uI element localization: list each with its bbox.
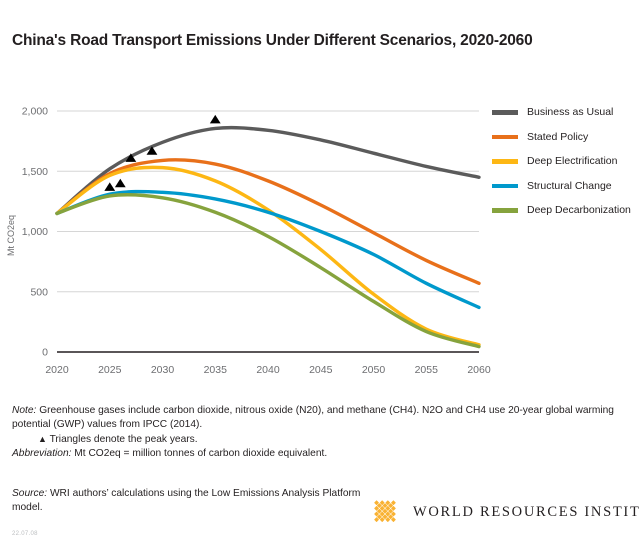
source-text: WRI authors’ calculations using the Low … — [12, 488, 360, 513]
svg-text:2020: 2020 — [45, 364, 69, 376]
legend-label: Structural Change — [527, 180, 612, 192]
note-text: Greenhouse gases include carbon dioxide,… — [12, 405, 614, 430]
wri-logo-text: WORLD RESOURCES INSTITUTE — [413, 504, 640, 521]
wri-diamond-logo-icon — [368, 495, 402, 529]
svg-text:2030: 2030 — [151, 364, 175, 376]
legend-item[interactable]: Deep Decarbonization — [492, 198, 640, 223]
legend-label: Deep Electrification — [527, 155, 617, 167]
legend-item[interactable]: Business as Usual — [492, 100, 640, 125]
svg-text:0: 0 — [42, 347, 48, 359]
legend-label: Deep Decarbonization — [527, 204, 631, 216]
date-code: 22.07.08 — [12, 531, 38, 537]
legend-item[interactable]: Stated Policy — [492, 125, 640, 150]
triangle-note-text: Triangles denote the peak years. — [47, 434, 198, 445]
x-axis-tick-labels: 202020252030203520402045205020552060 — [45, 364, 491, 376]
svg-text:2050: 2050 — [362, 364, 386, 376]
gridlines — [57, 111, 479, 352]
svg-text:500: 500 — [30, 286, 48, 298]
legend-swatch — [492, 208, 518, 213]
legend-item[interactable]: Structural Change — [492, 174, 640, 199]
triangle-note-line: ▲ Triangles denote the peak years. — [12, 432, 628, 447]
triangle-icon: ▲ — [38, 434, 47, 444]
legend-swatch — [492, 110, 518, 115]
series-lines — [57, 128, 479, 347]
source-prefix: Source: — [12, 488, 47, 499]
legend-swatch — [492, 135, 518, 140]
abbreviation-line: Abbreviation: Mt CO2eq = million tonnes … — [12, 447, 628, 461]
y-axis-tick-labels: 05001,0001,5002,000 — [22, 106, 48, 359]
chart-legend: Business as UsualStated PolicyDeep Elect… — [492, 100, 640, 223]
svg-text:2045: 2045 — [309, 364, 333, 376]
svg-text:2060: 2060 — [467, 364, 491, 376]
legend-item[interactable]: Deep Electrification — [492, 149, 640, 174]
svg-text:2055: 2055 — [415, 364, 439, 376]
svg-text:1,000: 1,000 — [22, 226, 48, 238]
note-prefix: Note: — [12, 405, 36, 416]
svg-text:2040: 2040 — [256, 364, 280, 376]
footnotes: Note: Greenhouse gases include carbon di… — [12, 404, 628, 462]
peak-year-triangles — [104, 115, 220, 191]
legend-swatch — [492, 184, 518, 189]
svg-text:2035: 2035 — [204, 364, 228, 376]
legend-label: Business as Usual — [527, 106, 613, 118]
svg-text:2025: 2025 — [98, 364, 122, 376]
svg-text:2,000: 2,000 — [22, 106, 48, 118]
note-line: Note: Greenhouse gases include carbon di… — [12, 404, 628, 432]
svg-text:1,500: 1,500 — [22, 166, 48, 178]
y-axis-title: Mt CO2eq — [6, 215, 16, 256]
source-line: Source: WRI authors’ calculations using … — [12, 487, 362, 515]
legend-swatch — [492, 159, 518, 164]
abbreviation-prefix: Abbreviation: — [12, 448, 71, 459]
wri-logo: WORLD RESOURCES INSTITUTE — [368, 495, 640, 529]
abbreviation-text: Mt CO2eq = million tonnes of carbon diox… — [71, 448, 327, 459]
legend-label: Stated Policy — [527, 131, 588, 143]
